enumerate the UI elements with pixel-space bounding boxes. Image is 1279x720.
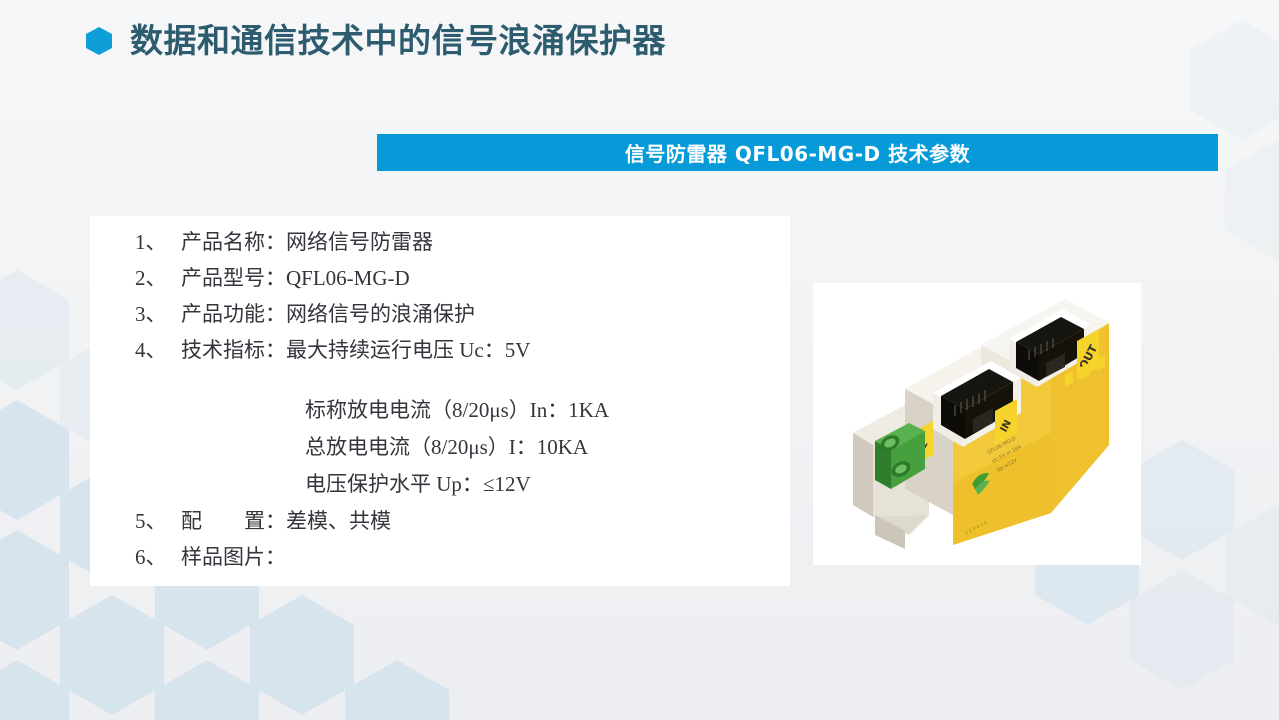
page-title: 数据和通信技术中的信号浪涌保护器 <box>130 24 666 57</box>
spec-item-value: QFL06-MG-D <box>286 268 410 289</box>
spec-item: 1、 产品名称： 网络信号防雷器 <box>135 232 780 268</box>
spec-item: 6、 样品图片： <box>135 547 780 583</box>
slide-canvas: 数据和通信技术中的信号浪涌保护器 信号防雷器 QFL06-MG-D 技术参数 1… <box>0 0 1279 720</box>
spec-item-number: 3、 <box>135 304 181 325</box>
page-title-row: 数据和通信技术中的信号浪涌保护器 <box>86 24 666 57</box>
spec-list: 1、 产品名称： 网络信号防雷器 2、 产品型号： QFL06-MG-D 3、 … <box>135 232 780 583</box>
spec-item-label: 配 置： <box>181 511 286 532</box>
spec-item-value: 差模、共模 <box>286 511 391 532</box>
spec-sub-item: 总放电电流（8/20μs）I：10KA <box>305 437 780 474</box>
spec-item: 2、 产品型号： QFL06-MG-D <box>135 268 780 304</box>
section-header-bar: 信号防雷器 QFL06-MG-D 技术参数 <box>377 134 1218 171</box>
spec-item-label: 产品型号： <box>181 268 286 289</box>
spec-item-label: 样品图片： <box>181 547 286 568</box>
hexagon-icon <box>86 27 112 55</box>
spec-item-label: 技术指标： <box>181 340 286 361</box>
product-photo: OUT IN PE <box>813 283 1141 565</box>
spec-panel: 1、 产品名称： 网络信号防雷器 2、 产品型号： QFL06-MG-D 3、 … <box>90 216 790 586</box>
spec-item-number: 5、 <box>135 511 181 532</box>
spec-item-label: 产品功能： <box>181 304 286 325</box>
spec-item-value: 网络信号的浪涌保护 <box>286 304 475 325</box>
spec-sub-item: 标称放电电流（8/20μs）In：1KA <box>305 400 780 437</box>
spec-item-label: 产品名称： <box>181 232 286 253</box>
spec-item-value: 最大持续运行电压 Uc：5V <box>286 340 530 361</box>
spec-item: 5、 配 置： 差模、共模 <box>135 511 780 547</box>
spec-item-number: 1、 <box>135 232 181 253</box>
spec-spacer <box>135 376 780 400</box>
section-header-title: 信号防雷器 QFL06-MG-D 技术参数 <box>625 138 970 167</box>
spec-item-number: 2、 <box>135 268 181 289</box>
spec-item-value: 网络信号防雷器 <box>286 232 433 253</box>
surge-protector-device-illustration: OUT IN PE <box>813 283 1141 565</box>
spec-item-number: 4、 <box>135 340 181 361</box>
spec-item-number: 6、 <box>135 547 181 568</box>
spec-item: 4、 技术指标： 最大持续运行电压 Uc：5V <box>135 340 780 376</box>
spec-sub-item: 电压保护水平 Up：≤12V <box>305 474 780 511</box>
spec-item: 3、 产品功能： 网络信号的浪涌保护 <box>135 304 780 340</box>
